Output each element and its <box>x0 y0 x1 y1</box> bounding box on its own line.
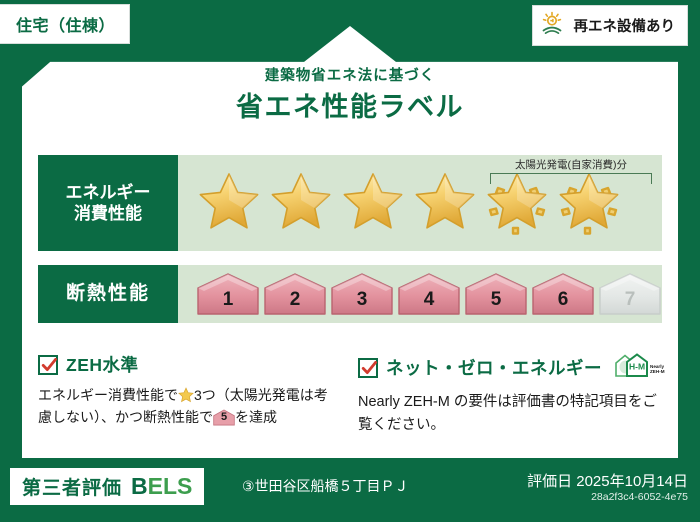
check-icon <box>38 355 58 375</box>
netzero-description: Nearly ZEH-M の要件は評価書の特記項目をご覧ください。 <box>358 391 666 437</box>
bels-plate: 第三者評価 BELS <box>10 468 204 505</box>
energy-row-label-line1: エネルギー <box>66 182 151 203</box>
insulation-level-number: 7 <box>598 289 662 311</box>
zeh-m-logo-icon: H-M Nearly ZEH-M <box>614 352 666 383</box>
star-solar-icon <box>556 170 622 236</box>
footer: 第三者評価 BELS ③世田谷区船橋５丁目ＰＪ 評価日 2025年10月14日 … <box>0 460 700 522</box>
evaluation-id: 28a2f3c4-6052-4e75 <box>591 491 688 503</box>
insulation-row-label: 断熱性能 <box>38 265 178 323</box>
star-solar-icon <box>484 170 550 236</box>
inline-star-icon <box>178 387 194 403</box>
heading-main: 省エネ性能ラベル <box>0 85 700 124</box>
bels-letter-b: B <box>131 473 148 499</box>
net-zero-energy-block: ネット・ゼロ・エネルギー H-M Nearly ZEH-M Nearly ZEH… <box>358 352 666 437</box>
zeh-description: エネルギー消費性能で3つ（太陽光発電は考慮しない）、かつ断熱性能で5を達成 <box>38 385 338 428</box>
energy-consumption-row: エネルギー 消費性能 太陽光発電(自家消費)分 <box>38 155 662 251</box>
star-filled-icon <box>268 170 334 236</box>
insulation-level-number: 4 <box>397 289 461 311</box>
energy-row-label-line2: 消費性能 <box>74 203 142 224</box>
netzero-heading: ネット・ゼロ・エネルギー H-M Nearly ZEH-M <box>358 352 666 383</box>
category-tab-label: 住宅（住棟） <box>16 18 115 35</box>
svg-text:ZEH-M: ZEH-M <box>650 369 665 374</box>
insulation-level-number: 2 <box>263 289 327 311</box>
star-filled-icon <box>412 170 478 236</box>
insulation-level-number: 6 <box>531 289 595 311</box>
zeh-title: ZEH水準 <box>66 352 139 377</box>
heading-sub: 建築物省エネ法に基づく <box>0 64 700 85</box>
insulation-level-active: 5 <box>464 272 528 316</box>
insulation-row-body: 1234567 <box>178 265 662 323</box>
insulation-level-active: 2 <box>263 272 327 316</box>
star-filled-icon <box>340 170 406 236</box>
solar-sun-icon <box>541 11 567 40</box>
evaluation-date: 評価日 2025年10月14日 <box>527 470 688 491</box>
inline-house-number: 5 <box>213 409 235 426</box>
project-name: ③世田谷区船橋５丁目ＰＪ <box>242 476 409 496</box>
star-rating <box>178 155 662 251</box>
renewable-badge-label: 再エネ設備あり <box>574 15 676 36</box>
bels-wordmark: BELS <box>131 473 192 500</box>
insulation-level-inactive: 7 <box>598 272 662 316</box>
zeh-standard-block: ZEH水準 エネルギー消費性能で3つ（太陽光発電は考慮しない）、かつ断熱性能で5… <box>38 352 338 428</box>
zeh-text-part3: を達成 <box>235 409 277 425</box>
insulation-level-number: 5 <box>464 289 528 311</box>
inline-house-icon: 5 <box>213 409 235 426</box>
insulation-level-active: 4 <box>397 272 461 316</box>
star-filled-icon <box>196 170 262 236</box>
insulation-level-scale: 1234567 <box>178 272 662 316</box>
category-tab: 住宅（住棟） <box>0 4 130 44</box>
check-icon <box>358 358 378 378</box>
bels-letters-els: ELS <box>148 473 193 499</box>
svg-text:H-M: H-M <box>629 362 645 372</box>
insulation-level-active: 3 <box>330 272 394 316</box>
energy-row-label: エネルギー 消費性能 <box>38 155 178 251</box>
insulation-level-number: 3 <box>330 289 394 311</box>
insulation-row: 断熱性能 1234567 <box>38 265 662 323</box>
netzero-title: ネット・ゼロ・エネルギー <box>386 355 602 380</box>
insulation-level-active: 1 <box>196 272 260 316</box>
insulation-level-active: 6 <box>531 272 595 316</box>
zeh-text-part1: エネルギー消費性能で <box>38 387 178 403</box>
insulation-level-number: 1 <box>196 289 260 311</box>
renewable-energy-badge: 再エネ設備あり <box>532 5 689 46</box>
energy-performance-label: 住宅（住棟） 再エネ設備あり 建築物省エネ法に基づく 省エネ性能ラベル <box>0 0 700 522</box>
bels-jp-label: 第三者評価 <box>22 473 122 500</box>
energy-row-body: 太陽光発電(自家消費)分 <box>178 155 662 251</box>
zeh-heading: ZEH水準 <box>38 352 338 377</box>
